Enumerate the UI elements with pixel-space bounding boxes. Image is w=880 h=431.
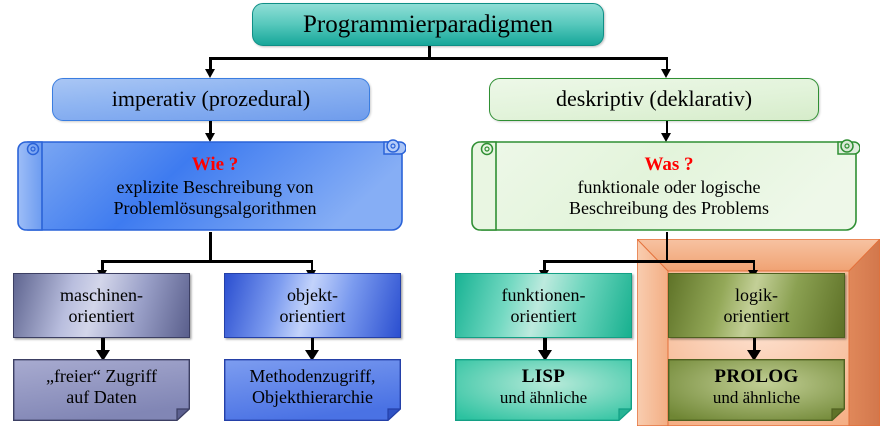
node-objekt-orientiert[interactable]: objekt- orientiert — [224, 273, 401, 338]
note-lisp-language: LISP — [522, 366, 565, 388]
connector-right-bus — [543, 260, 755, 263]
node-maschinen-line2: orientiert — [69, 306, 135, 326]
scroll-deskriptiv-line2: Beschreibung des Problems — [569, 198, 769, 219]
node-logik-orientiert[interactable]: logik- orientiert — [668, 273, 845, 338]
note-freier-line1: „freier“ Zugriff — [46, 366, 157, 387]
node-imperativ-label: imperativ (prozedural) — [112, 87, 311, 112]
note-lisp[interactable]: LISP und ähnliche — [455, 359, 632, 421]
node-maschinen-orientiert[interactable]: maschinen- orientiert — [13, 273, 190, 338]
node-maschinen-line1: maschinen- — [60, 285, 143, 305]
note-methoden-line2: Objekthierarchie — [252, 387, 373, 408]
connector-left-stem — [209, 232, 212, 262]
note-lisp-suffix: und ähnliche — [500, 388, 587, 408]
arrowhead-descriptive — [661, 69, 671, 78]
node-deskriptiv[interactable]: deskriptiv (deklarativ) — [489, 78, 819, 121]
root-node-label: Programmierparadigmen — [303, 11, 553, 39]
diagram-canvas: Programmierparadigmen imperativ (prozedu… — [0, 0, 880, 426]
node-funktionen-orientiert[interactable]: funktionen- orientiert — [455, 273, 632, 338]
node-objekt-line2: orientiert — [280, 306, 346, 326]
node-funktionen-line1: funktionen- — [502, 285, 586, 305]
note-methoden-line1: Methodenzugriff, — [249, 366, 375, 387]
arrowhead-imperative — [205, 69, 215, 78]
scroll-imperativ-line2: Problemlösungsalgorithmen — [114, 198, 317, 219]
node-funktionen-line2: orientiert — [511, 306, 577, 326]
note-freier-line2: auf Daten — [66, 387, 136, 408]
note-prolog-suffix: und ähnliche — [713, 388, 800, 408]
note-prolog[interactable]: PROLOG und ähnliche — [668, 359, 845, 421]
node-imperativ[interactable]: imperativ (prozedural) — [52, 78, 370, 121]
scroll-deskriptiv-line1: funktionale oder logische — [578, 177, 761, 198]
scroll-imperativ-description[interactable]: Wie ? explizite Beschreibung von Problem… — [14, 136, 406, 236]
node-logik-line1: logik- — [735, 285, 778, 305]
connector-left-bus — [101, 260, 313, 263]
root-node-programmierparadigmen[interactable]: Programmierparadigmen — [252, 3, 604, 46]
scroll-deskriptiv-question: Was ? — [644, 154, 693, 176]
node-logik-line2: orientiert — [724, 306, 790, 326]
scroll-deskriptiv-description[interactable]: Was ? funktionale oder logische Beschrei… — [468, 136, 860, 236]
note-prolog-language: PROLOG — [714, 366, 798, 388]
scroll-imperativ-line1: explizite Beschreibung von — [117, 177, 314, 198]
note-freier-zugriff[interactable]: „freier“ Zugriff auf Daten — [13, 359, 190, 421]
node-objekt-line1: objekt- — [287, 285, 338, 305]
node-deskriptiv-label: deskriptiv (deklarativ) — [556, 87, 752, 112]
note-methodenzugriff[interactable]: Methodenzugriff, Objekthierarchie — [224, 359, 401, 421]
connector-right-stem — [666, 232, 669, 262]
scroll-imperativ-question: Wie ? — [192, 154, 239, 176]
connector-title-bus — [209, 57, 668, 60]
